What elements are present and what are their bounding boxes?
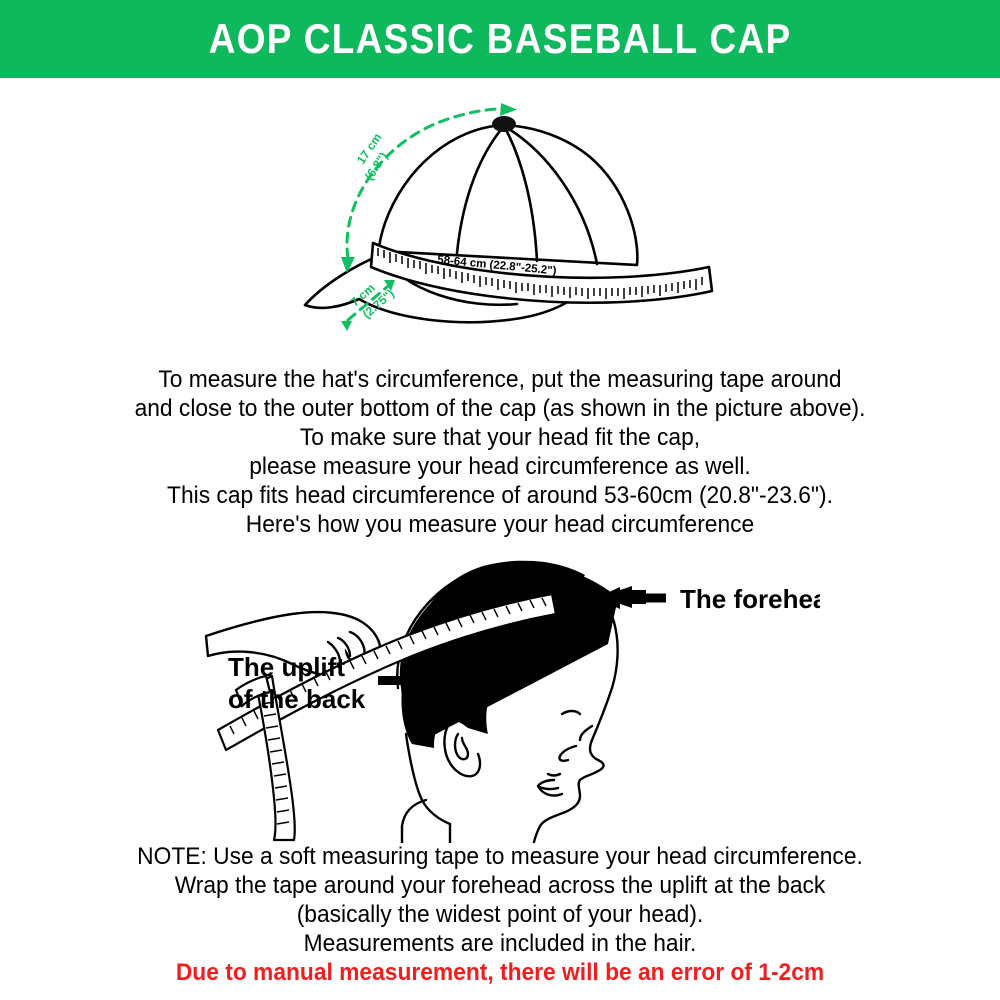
instructions-line: and close to the outer bottom of the cap… bbox=[35, 394, 965, 423]
note-line: NOTE: Use a soft measuring tape to measu… bbox=[35, 842, 965, 871]
instructions-line: This cap fits head circumference of arou… bbox=[35, 481, 965, 510]
measurement-warning: Due to manual measurement, there will be… bbox=[35, 958, 965, 988]
cap-diagram: 58-64 cm (22.8"-25.2") 17 cm (6.8") 7 cm… bbox=[285, 95, 745, 350]
note-line: (basically the widest point of your head… bbox=[35, 900, 965, 929]
uplift-label-line1: The uplift bbox=[228, 652, 345, 682]
instructions-line: To make sure that your head fit the cap, bbox=[35, 423, 965, 452]
instructions-paragraph: To measure the hat's circumference, put … bbox=[0, 365, 1000, 539]
note-paragraph: NOTE: Use a soft measuring tape to measu… bbox=[0, 842, 1000, 988]
uplift-label-line2: of the back bbox=[228, 684, 366, 714]
note-line: Wrap the tape around your forehead acros… bbox=[35, 871, 965, 900]
forehead-label: The forehead bbox=[680, 584, 820, 614]
instructions-line: To measure the hat's circumference, put … bbox=[35, 365, 965, 394]
header-banner: AOP CLASSIC BASEBALL CAP bbox=[0, 0, 1000, 78]
note-line: Measurements are included in the hair. bbox=[35, 929, 965, 958]
head-diagram: The forehead The uplift of the back bbox=[200, 548, 820, 843]
page-title: AOP CLASSIC BASEBALL CAP bbox=[209, 15, 792, 63]
instructions-line: please measure your head circumference a… bbox=[35, 452, 965, 481]
instructions-line: Here's how you measure your head circumf… bbox=[35, 510, 965, 539]
cap-button-icon bbox=[492, 116, 516, 132]
